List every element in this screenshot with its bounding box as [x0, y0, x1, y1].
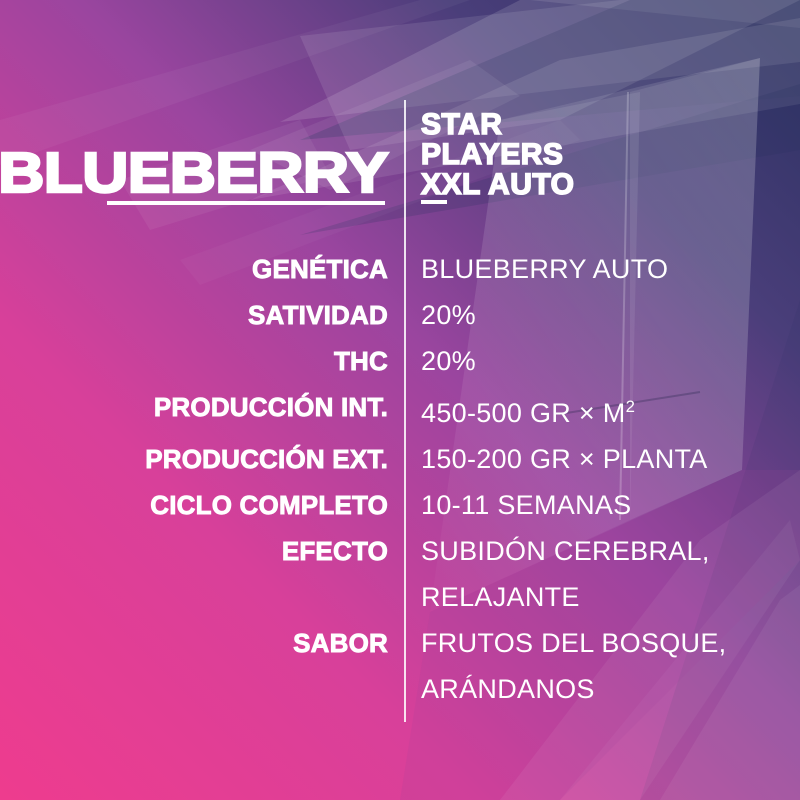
page-title: BLUEBERRY	[0, 144, 388, 202]
spec-label-ciclo-completo: CICLO COMPLETO	[0, 482, 388, 528]
spec-value-sabor: FRUTOS DEL BOSQUE, ARÁNDANOS	[421, 620, 726, 712]
spec-label-sabor: SABOR	[0, 620, 388, 666]
table-row: PRODUCCIÓN INT. 450-500 GR × M2	[0, 384, 800, 436]
spec-label-produccion-ext: PRODUCCIÓN EXT.	[0, 436, 388, 482]
table-row: CICLO COMPLETO 10-11 SEMANAS	[0, 482, 800, 528]
strain-name-line-3: XXL AUTO	[421, 170, 781, 200]
spec-value-efecto: SUBIDÓN CEREBRAL, RELAJANTE	[421, 528, 710, 620]
strain-name-line-1: STAR	[421, 110, 781, 140]
spec-value-thc: 20%	[421, 338, 476, 384]
spec-value-genetica: BLUEBERRY AUTO	[421, 246, 668, 292]
brand-title-block: BLUEBERRY	[0, 144, 388, 202]
spec-table: GENÉTICA BLUEBERRY AUTO SATIVIDAD 20% TH…	[0, 246, 800, 712]
table-row: SATIVIDAD 20%	[0, 292, 800, 338]
strain-name-block: STAR PLAYERS XXL AUTO	[421, 110, 781, 200]
spec-label-genetica: GENÉTICA	[0, 246, 388, 292]
spec-label-thc: THC	[0, 338, 388, 384]
table-row: EFECTO SUBIDÓN CEREBRAL, RELAJANTE	[0, 528, 800, 620]
spec-value-produccion-int: 450-500 GR × M2	[421, 384, 635, 436]
spec-value-ciclo-completo: 10-11 SEMANAS	[421, 482, 632, 528]
spec-value-satividad: 20%	[421, 292, 476, 338]
table-row: GENÉTICA BLUEBERRY AUTO	[0, 246, 800, 292]
spec-label-efecto: EFECTO	[0, 528, 388, 574]
spec-label-produccion-int: PRODUCCIÓN INT.	[0, 384, 388, 430]
table-row: THC 20%	[0, 338, 800, 384]
spec-value-produccion-ext: 150-200 GR × PLANTA	[421, 436, 708, 482]
table-row: SABOR FRUTOS DEL BOSQUE, ARÁNDANOS	[0, 620, 800, 712]
table-row: PRODUCCIÓN EXT. 150-200 GR × PLANTA	[0, 436, 800, 482]
strain-info-card: BLUEBERRY STAR PLAYERS XXL AUTO GENÉTICA…	[0, 0, 800, 800]
strain-name-line-2: PLAYERS	[421, 140, 781, 170]
strain-name-underline	[421, 200, 447, 204]
brand-title-underline	[107, 201, 385, 205]
spec-label-satividad: SATIVIDAD	[0, 292, 388, 338]
